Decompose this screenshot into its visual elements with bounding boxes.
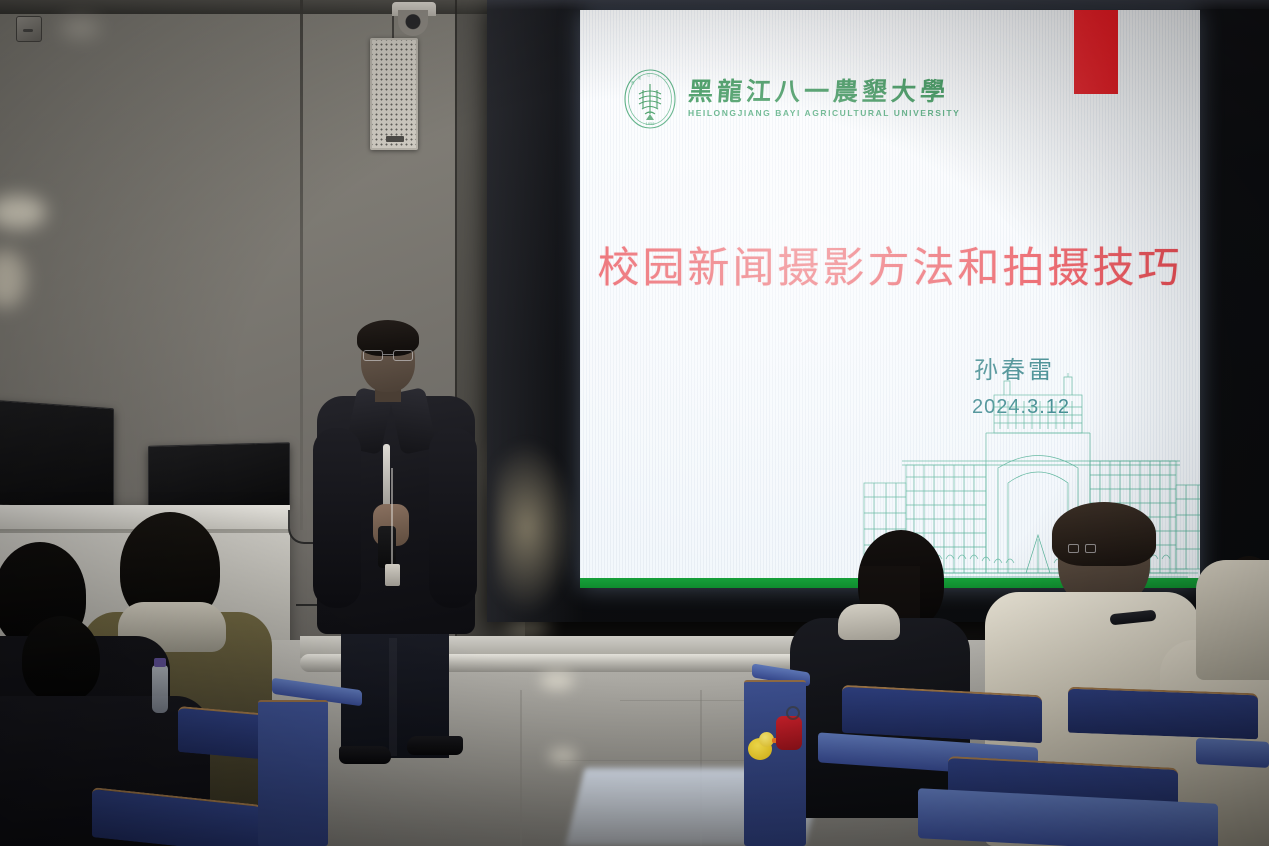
lectern-monitor-left — [0, 400, 114, 514]
slide-title: 校园新闻摄影方法和拍摄技巧 — [580, 248, 1200, 290]
slide-red-accent-bar — [1074, 10, 1118, 94]
university-seal-icon: 1958 黑龍江 八一 — [622, 68, 678, 130]
glasses-lens-right — [1085, 544, 1096, 553]
desk-side-panel — [258, 700, 328, 846]
badge-icon — [385, 564, 400, 586]
desk-surface — [1196, 738, 1269, 768]
university-branding: 1958 黑龍江 八一 黑龍江八一農墾大學 HEILONGJIANG BAYI … — [622, 68, 960, 130]
chair-back — [1068, 687, 1258, 740]
camera-lens — [398, 10, 428, 36]
glasses-lens-right — [393, 350, 413, 361]
water-bottle — [152, 665, 168, 713]
presenter-shoe-left — [339, 746, 391, 764]
glasses-icon — [363, 350, 413, 361]
desk-side-panel — [744, 680, 806, 846]
university-name-en: HEILONGJIANG BAYI AGRICULTURAL UNIVERSIT… — [688, 108, 960, 118]
floor-tile-seam — [520, 690, 522, 846]
yellow-duck-plush-icon — [748, 732, 778, 762]
student-collar — [838, 604, 900, 640]
glasses-icon — [1068, 544, 1096, 553]
wall-sensor-box-icon — [16, 16, 42, 42]
red-pouch — [776, 716, 802, 750]
glasses-bridge — [383, 354, 393, 355]
university-name-block: 黑龍江八一農墾大學 HEILONGJIANG BAYI AGRICULTURAL… — [688, 80, 960, 118]
water-bottle-cap — [154, 658, 166, 667]
lanyard — [391, 468, 393, 568]
keyring-icon — [786, 706, 800, 720]
lecture-hall-photo: 1958 黑龍江 八一 黑龍江八一農墾大學 HEILONGJIANG BAYI … — [0, 0, 1269, 846]
glasses-lens-left — [363, 350, 383, 361]
glasses-lens-left — [1068, 544, 1079, 553]
lectern-monitor-right — [148, 442, 290, 511]
student-head — [22, 616, 100, 702]
university-name-cn: 黑龍江八一農墾大學 — [687, 80, 961, 105]
presenter-arm-right — [429, 428, 477, 608]
security-dome-camera-icon — [392, 2, 436, 36]
ceiling-speaker-vent-icon — [370, 38, 418, 150]
svg-text:江: 江 — [647, 72, 651, 77]
presenter-shoe-right — [407, 736, 463, 755]
wall-seam — [300, 0, 303, 530]
student-hair — [1052, 502, 1156, 566]
presenter-arm-left — [313, 428, 361, 608]
projection-board-top-edge — [487, 0, 1269, 9]
microphone-body — [378, 526, 396, 568]
presenter-leg-gap — [389, 638, 397, 756]
student-arm — [1196, 560, 1269, 680]
svg-text:1958: 1958 — [646, 121, 656, 126]
